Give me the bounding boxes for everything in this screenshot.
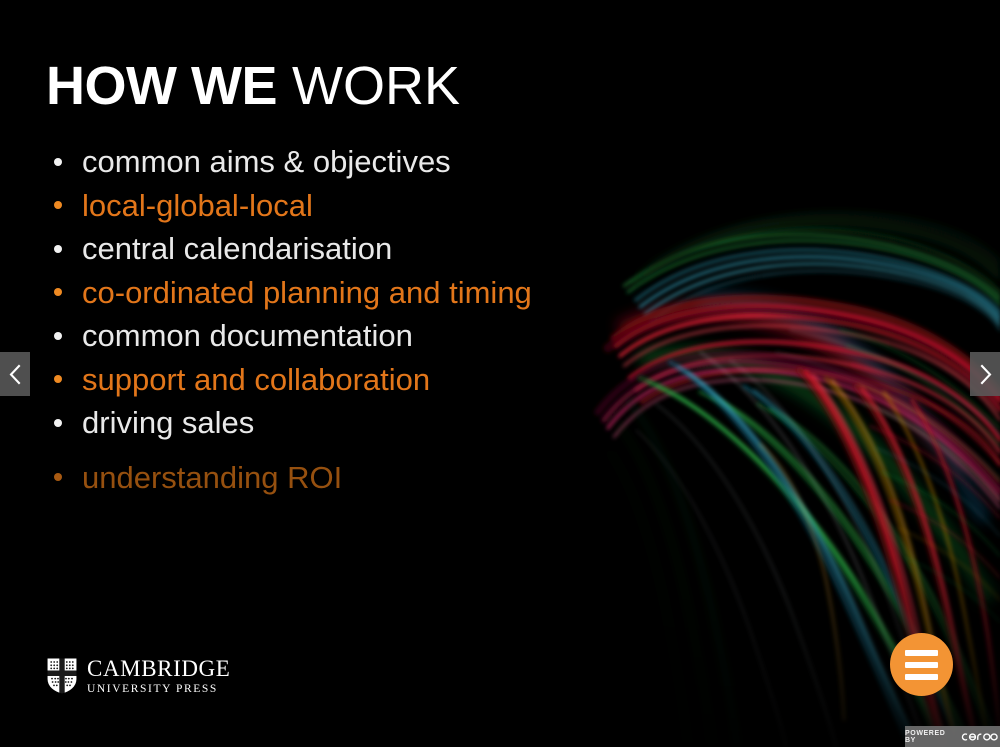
bullet-dot-icon	[54, 158, 62, 166]
hamburger-menu-icon	[905, 650, 938, 656]
bullet-dot-icon	[54, 201, 62, 209]
next-slide-button[interactable]	[970, 352, 1000, 396]
list-item: central calendarisation	[46, 227, 666, 271]
presentation-slide: HOW WE WORK common aims & objectives loc…	[0, 0, 1000, 747]
list-item: common aims & objectives	[46, 140, 666, 184]
list-item-label: central calendarisation	[82, 231, 392, 266]
chevron-right-icon	[979, 364, 992, 385]
hamburger-menu-icon	[905, 662, 938, 668]
list-item-label: common documentation	[82, 318, 413, 353]
powered-by-label: POWERED BY	[905, 730, 955, 744]
powered-by-ceros-badge[interactable]: POWERED BY	[905, 726, 1000, 747]
list-item-label: common aims & objectives	[82, 144, 451, 179]
page-title: HOW WE WORK	[46, 59, 460, 113]
hamburger-menu-icon	[905, 674, 938, 680]
bullet-dot-icon	[54, 288, 62, 296]
list-item-label: co-ordinated planning and timing	[82, 275, 532, 310]
bullet-dot-icon	[54, 332, 62, 340]
logo-name: CAMBRIDGE	[87, 657, 230, 680]
page-title-bold: HOW WE	[46, 56, 277, 116]
cambridge-university-press-logo: CAMBRIDGE UNIVERSITY PRESS	[46, 657, 230, 696]
list-item-label: support and collaboration	[82, 362, 430, 397]
menu-button[interactable]	[890, 633, 953, 696]
bullet-list: common aims & objectives local-global-lo…	[46, 140, 666, 499]
bullet-dot-icon	[54, 473, 62, 481]
list-item: co-ordinated planning and timing	[46, 271, 666, 315]
bullet-dot-icon	[54, 375, 62, 383]
chevron-left-icon	[9, 364, 22, 385]
list-item-label: understanding ROI	[82, 460, 342, 495]
cambridge-shield-crest-icon	[46, 657, 78, 695]
list-item: local-global-local	[46, 184, 666, 228]
ceros-logo-icon	[960, 730, 1000, 743]
logo-wordmark: CAMBRIDGE UNIVERSITY PRESS	[87, 657, 230, 696]
logo-subtitle: UNIVERSITY PRESS	[87, 684, 230, 696]
list-item: common documentation	[46, 314, 666, 358]
list-item-label: local-global-local	[82, 188, 313, 223]
list-item: driving sales	[46, 401, 666, 445]
bullet-dot-icon	[54, 245, 62, 253]
page-title-light: WORK	[277, 56, 460, 116]
previous-slide-button[interactable]	[0, 352, 30, 396]
list-item: support and collaboration	[46, 358, 666, 402]
list-item: understanding ROI	[46, 456, 666, 500]
bullet-dot-icon	[54, 419, 62, 427]
list-item-label: driving sales	[82, 405, 254, 440]
